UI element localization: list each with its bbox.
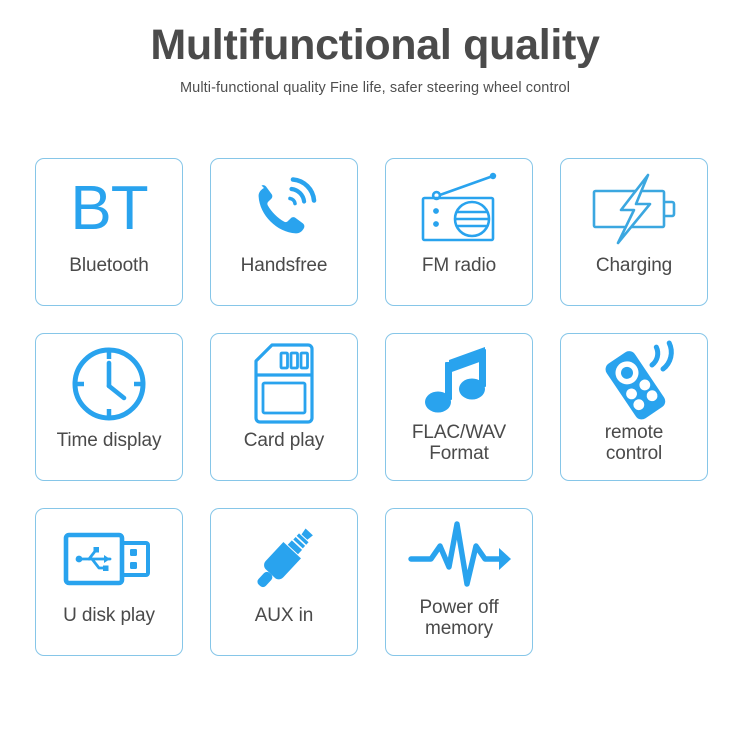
icon-container: [211, 509, 357, 605]
feature-label: Card play: [211, 430, 357, 451]
page-title: Multifunctional quality: [0, 22, 750, 68]
feature-card-card-play[interactable]: Card play: [210, 333, 358, 481]
feature-label: Power off memory: [386, 597, 532, 640]
page-subtitle: Multi-functional quality Fine life, safe…: [0, 80, 750, 96]
clock-icon: [68, 343, 150, 425]
feature-label: U disk play: [36, 605, 182, 626]
feature-card-power-off-memory[interactable]: Power off memory: [385, 508, 533, 656]
icon-container: [386, 334, 532, 422]
icon-container: [211, 159, 357, 255]
radio-icon: [415, 170, 503, 248]
feature-label: Time display: [36, 430, 182, 451]
bt-text-icon: BT: [70, 178, 147, 240]
feature-card-charging[interactable]: Charging: [560, 158, 708, 306]
feature-label-line2: control: [564, 443, 704, 464]
icon-container: [211, 334, 357, 430]
music-note-icon: [423, 340, 495, 420]
icon-container: BT: [36, 159, 182, 255]
feature-label-line2: Format: [389, 443, 529, 464]
icon-container: [386, 509, 532, 597]
feature-card-u-disk-play[interactable]: U disk play: [35, 508, 183, 656]
feature-card-remote-control[interactable]: remote control: [560, 333, 708, 481]
feature-card-aux-in[interactable]: AUX in: [210, 508, 358, 656]
waveform-arrow-icon: [407, 518, 511, 592]
feature-label-line2: memory: [389, 618, 529, 639]
audio-jack-icon: [241, 516, 327, 602]
feature-label: Handsfree: [211, 255, 357, 276]
feature-graphic: Multifunctional quality Multi-functional…: [0, 0, 750, 750]
feature-card-time-display[interactable]: Time display: [35, 333, 183, 481]
feature-label-line1: Power off: [389, 597, 529, 618]
sd-card-icon: [250, 342, 318, 426]
feature-label: AUX in: [211, 605, 357, 626]
feature-label: Bluetooth: [36, 255, 182, 276]
icon-container: [36, 334, 182, 430]
remote-control-icon: [590, 339, 678, 421]
feature-card-bluetooth[interactable]: BT Bluetooth: [35, 158, 183, 306]
battery-bolt-icon: [588, 169, 680, 249]
feature-card-fm-radio[interactable]: FM radio: [385, 158, 533, 306]
icon-container: [386, 159, 532, 255]
feature-label: remote control: [561, 422, 707, 465]
icon-container: [561, 159, 707, 255]
feature-card-handsfree[interactable]: Handsfree: [210, 158, 358, 306]
feature-label-line1: FLAC/WAV: [389, 422, 529, 443]
feature-card-flac-wav-format[interactable]: FLAC/WAV Format: [385, 333, 533, 481]
feature-label-line1: remote: [564, 422, 704, 443]
icon-container: [36, 509, 182, 605]
phone-handset-icon: [243, 168, 325, 250]
feature-label: FM radio: [386, 255, 532, 276]
usb-drive-icon: [62, 527, 156, 591]
icon-container: [561, 334, 707, 422]
header: Multifunctional quality Multi-functional…: [0, 0, 750, 96]
feature-label: Charging: [561, 255, 707, 276]
feature-grid: BT Bluetooth Handsfree: [35, 158, 715, 656]
feature-label: FLAC/WAV Format: [386, 422, 532, 465]
